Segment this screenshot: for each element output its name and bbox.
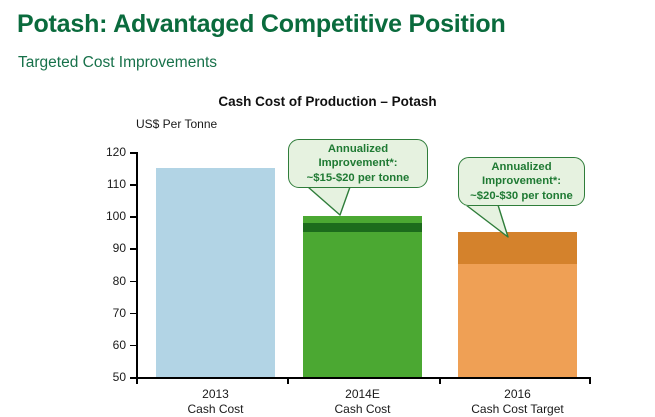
y-tick-mark (130, 216, 137, 218)
slide: Potash: Advantaged Competitive Position … (0, 0, 655, 416)
x-tick-mark (136, 377, 138, 384)
x-tick-mark (439, 377, 441, 384)
y-axis-unit-label: US$ Per Tonne (136, 117, 217, 131)
x-axis-label-2013: 2013 Cash Cost (156, 387, 275, 417)
x-tick-mark (287, 377, 289, 384)
callout-1-line2: Improvement*: (307, 156, 410, 171)
callout-1-line1: Annualized (307, 142, 410, 157)
y-tick-label: 100 (96, 209, 126, 223)
callout-2-line1: Annualized (470, 160, 573, 175)
y-tick-label: 60 (96, 338, 126, 352)
y-tick-mark (130, 152, 137, 154)
x-axis-label-2014e-line1: 2014E (345, 387, 380, 401)
x-axis-label-2016-line2: Cash Cost Target (450, 402, 585, 417)
y-tick-mark (130, 345, 137, 347)
y-tick-mark (130, 184, 137, 186)
x-axis-label-2016: 2016 Cash Cost Target (450, 387, 585, 417)
callout-2-line2: Improvement*: (470, 174, 573, 189)
bar-band-2014e-improvement (303, 223, 422, 233)
bar-2016-cash-cost-target[interactable] (458, 232, 577, 377)
y-axis-tick-labels: 120 110 100 90 80 70 60 50 (96, 85, 126, 416)
y-tick-label: 70 (96, 306, 126, 320)
y-tick-mark (130, 248, 137, 250)
x-axis-label-2016-line1: 2016 (504, 387, 531, 401)
callout-2-line3: ~$20-$30 per tonne (470, 189, 573, 204)
x-axis-label-2014e-line2: Cash Cost (303, 402, 422, 417)
callout-1-line3: ~$15-$20 per tonne (307, 171, 410, 186)
page-subtitle: Targeted Cost Improvements (18, 54, 217, 72)
y-tick-mark (130, 313, 137, 315)
y-tick-label: 50 (96, 370, 126, 384)
callout-2016-annualized-improvement: Annualized Improvement*: ~$20-$30 per to… (458, 157, 585, 206)
x-tick-mark (589, 377, 591, 384)
bar-band-2016-improvement (458, 232, 577, 264)
callout-2014e-annualized-improvement: Annualized Improvement*: ~$15-$20 per to… (288, 139, 428, 188)
bar-2013-cash-cost[interactable] (156, 168, 275, 377)
y-tick-label: 110 (96, 177, 126, 191)
x-axis-label-2013-line1: 2013 (202, 387, 229, 401)
y-tick-label: 90 (96, 241, 126, 255)
y-tick-label: 120 (96, 145, 126, 159)
y-tick-mark (130, 281, 137, 283)
x-axis-line (136, 377, 591, 379)
x-axis-label-2014e: 2014E Cash Cost (303, 387, 422, 417)
y-tick-label: 80 (96, 274, 126, 288)
chart-container: Cash Cost of Production – Potash US$ Per… (0, 85, 655, 416)
bar-2014e-cash-cost[interactable] (303, 216, 422, 377)
x-axis-label-2013-line2: Cash Cost (156, 402, 275, 417)
page-title: Potash: Advantaged Competitive Position (17, 10, 506, 39)
